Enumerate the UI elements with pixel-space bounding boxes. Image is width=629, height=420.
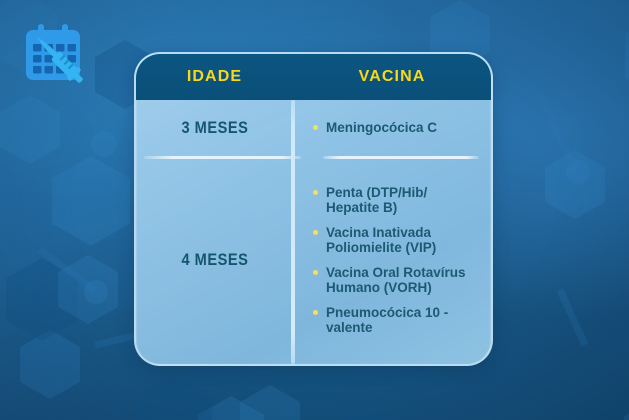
list-item: Penta (DTP/Hib/ Hepatite B) — [313, 185, 479, 216]
bullet-icon — [313, 125, 318, 130]
column-header-idade: IDADE — [136, 54, 293, 100]
vaccine-name: Vacina Oral Rotavírus Humano (VORH) — [326, 265, 466, 296]
table-row: 4 MESES Penta (DTP/Hib/ Hepatite B) Vaci… — [136, 156, 491, 364]
list-item: Vacina Inativada Poliomielite (VIP) — [313, 225, 479, 256]
age-cell: 4 MESES — [136, 156, 293, 364]
list-item: Meningocócica C — [313, 120, 479, 136]
list-item: Pneumocócica 10 - valente — [313, 305, 479, 336]
vaccine-cell: Penta (DTP/Hib/ Hepatite B) Vacina Inati… — [293, 156, 491, 364]
vaccine-name: Penta (DTP/Hib/ Hepatite B) — [326, 185, 427, 216]
list-item: Vacina Oral Rotavírus Humano (VORH) — [313, 265, 479, 296]
bullet-icon — [313, 190, 318, 195]
bullet-icon — [313, 310, 318, 315]
vaccine-name: Meningocócica C — [326, 120, 437, 136]
vaccine-cell: Meningocócica C — [293, 100, 491, 156]
vaccination-schedule-table: IDADE VACINA 3 MESES Meningocócica C — [134, 52, 493, 366]
vaccine-name: Vacina Inativada Poliomielite (VIP) — [326, 225, 436, 256]
vaccine-name: Pneumocócica 10 - valente — [326, 305, 448, 336]
table-body: 3 MESES Meningocócica C 4 MESES — [136, 100, 491, 364]
table-row: 3 MESES Meningocócica C — [136, 100, 491, 156]
age-cell: 3 MESES — [136, 100, 293, 156]
bullet-icon — [313, 270, 318, 275]
age-label: 4 MESES — [181, 250, 248, 270]
slide-canvas: IDADE VACINA 3 MESES Meningocócica C — [0, 0, 629, 420]
table-header-row: IDADE VACINA — [136, 54, 491, 100]
age-label: 3 MESES — [181, 118, 248, 138]
calendar-syringe-icon — [18, 18, 100, 100]
bullet-icon — [313, 230, 318, 235]
column-header-vacina: VACINA — [293, 54, 491, 100]
